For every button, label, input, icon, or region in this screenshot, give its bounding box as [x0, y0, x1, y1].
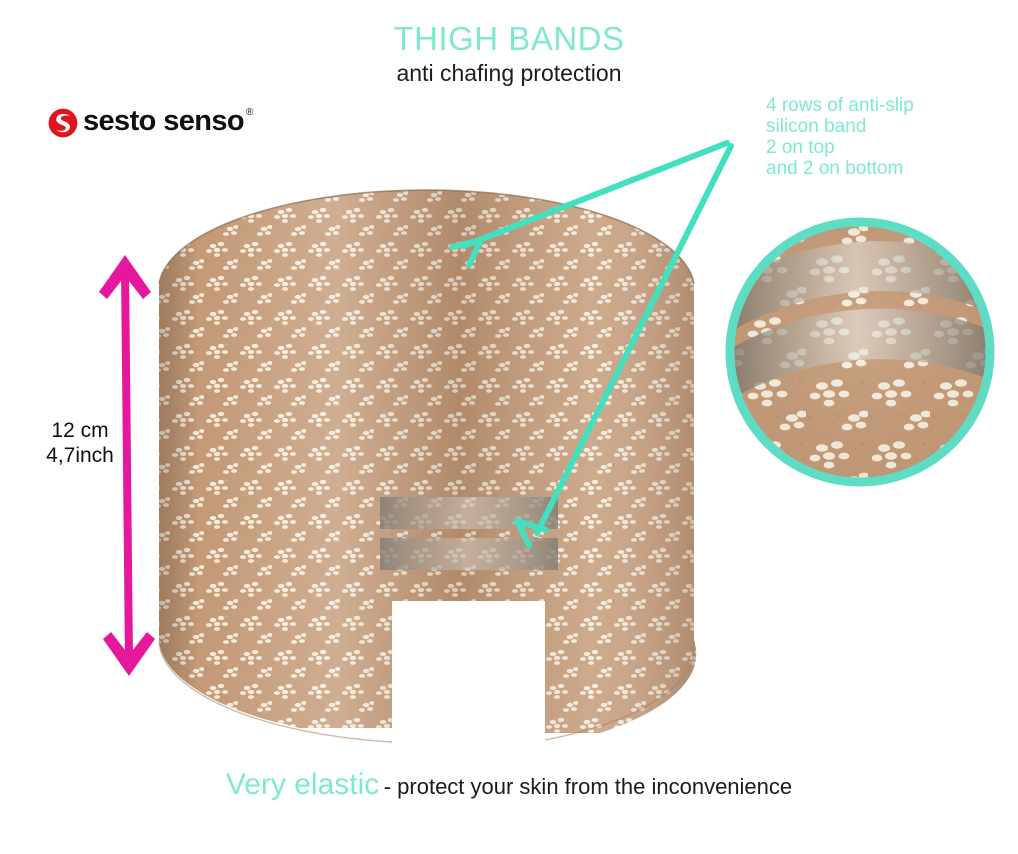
product-cylinder	[140, 170, 720, 750]
sesto-senso-s-emblem-icon	[48, 108, 78, 138]
trademark-symbol: ®	[246, 107, 253, 119]
detail-callout-circle	[720, 215, 1005, 490]
infographic-canvas: THIGH BANDS anti chafing protection sest…	[0, 0, 1018, 854]
brand-name: sesto senso	[83, 105, 244, 137]
dimension-arrow	[99, 255, 155, 676]
brand-logo: sesto senso ®	[48, 105, 253, 138]
cylinder-outer-wall	[140, 170, 720, 750]
dimension-arrow-shaft	[121, 268, 133, 662]
